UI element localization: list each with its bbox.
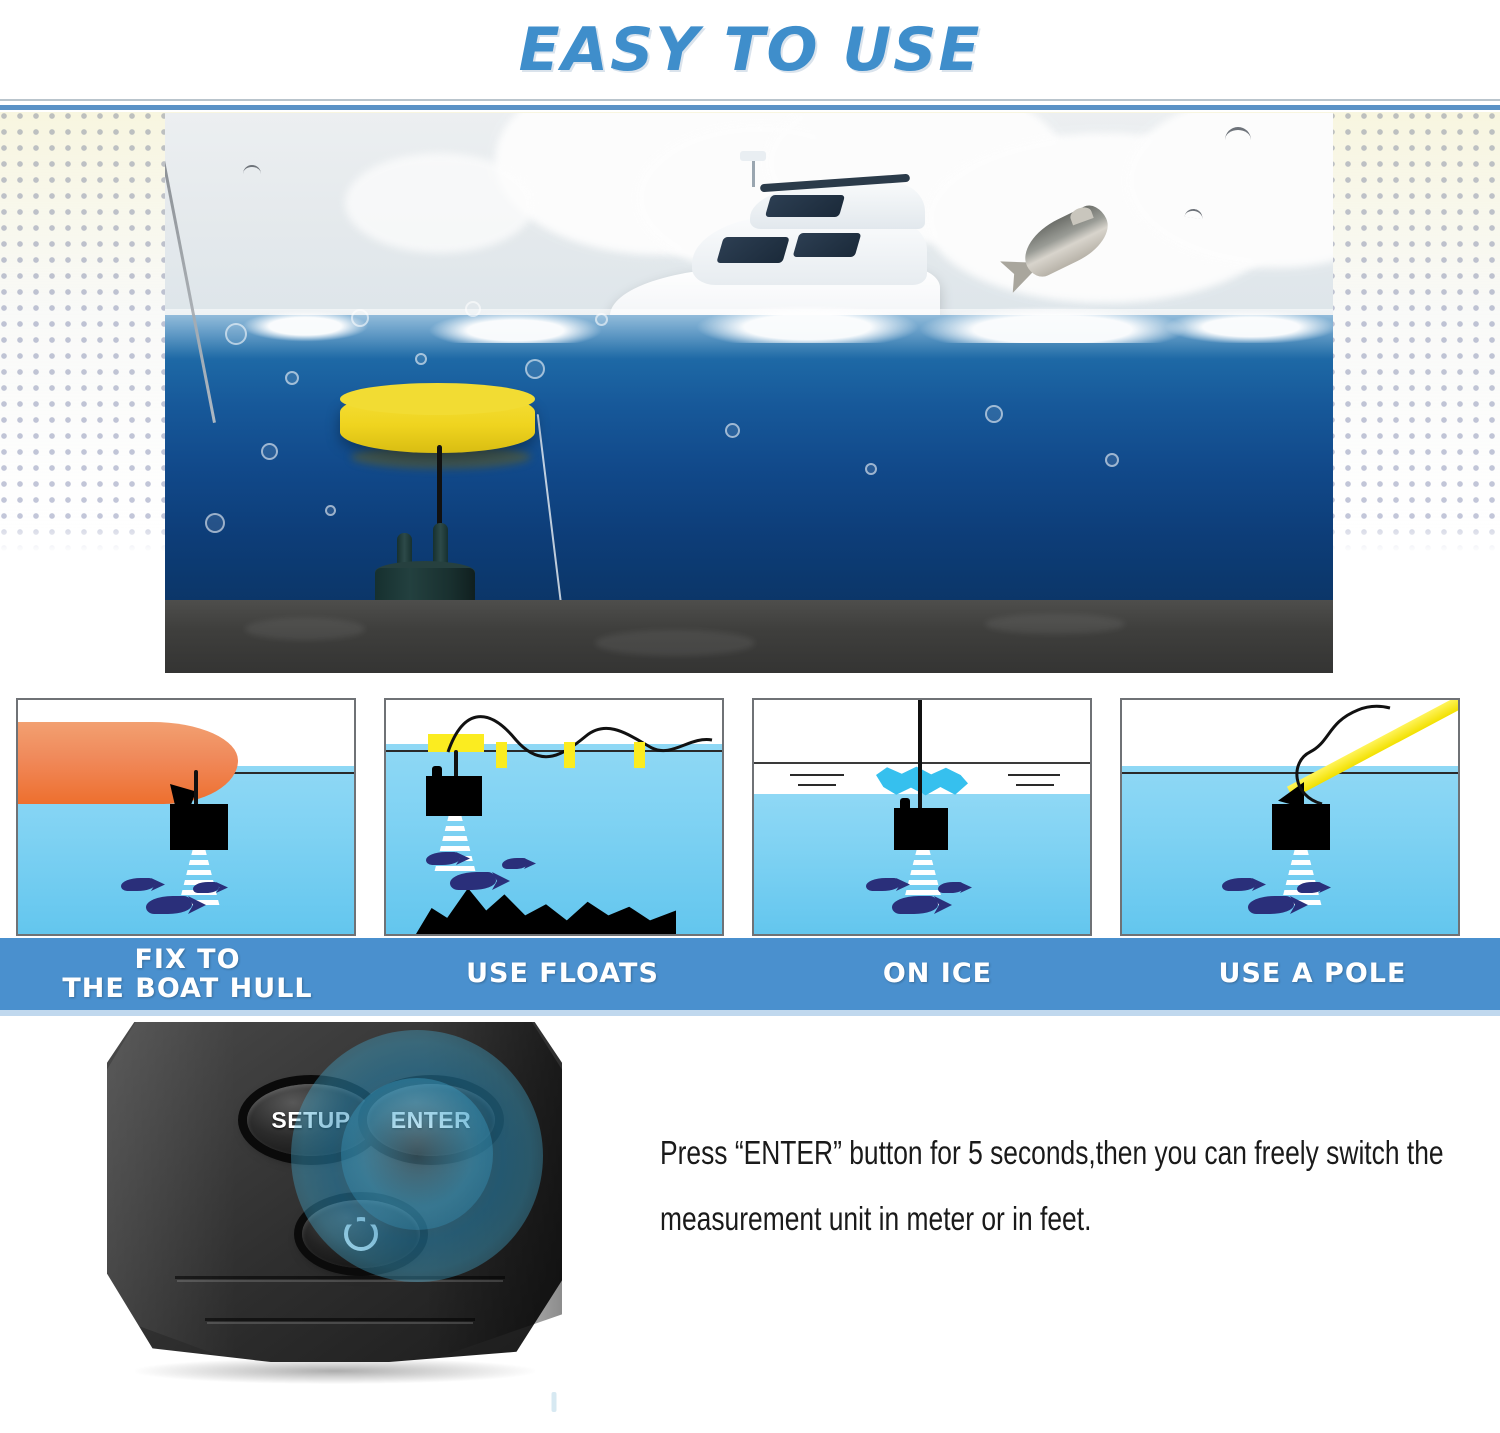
seabed-rock [245, 618, 365, 640]
caption-banner: FIX TO THE BOAT HULL USE FLOATS ON ICE U… [0, 938, 1500, 1010]
setup-button[interactable]: SETUP [247, 1084, 375, 1156]
transducer-cable [194, 770, 198, 806]
header-divider-gray [0, 99, 1500, 101]
bubble [725, 423, 740, 438]
ice-crack [1016, 784, 1054, 786]
caption-use-a-pole: USE A POLE [1125, 959, 1500, 988]
ice-crack [798, 784, 836, 786]
power-icon [344, 1217, 378, 1251]
transducer-cable [437, 445, 442, 535]
bubble [225, 323, 247, 345]
page-header: EASY TO USE [0, 0, 1500, 100]
sonar-fish-finder-unit: SETUP ENTER [95, 1022, 575, 1392]
water-body [165, 315, 1333, 612]
device-facet-right [425, 1022, 562, 1362]
header-divider-blue [0, 105, 1500, 110]
transducer-cable [918, 700, 922, 808]
instruction-text: Press “ENTER” button for 5 seconds,then … [660, 1120, 1468, 1252]
bubble [351, 309, 369, 327]
ice-crack [790, 774, 844, 776]
seabed-rock [985, 614, 1125, 634]
yacht-mast [752, 157, 755, 187]
page-title: EASY TO USE [519, 15, 982, 85]
transducer-cable [454, 750, 458, 778]
float-bobber [634, 742, 645, 768]
device-bevel-line [205, 1318, 475, 1321]
transducer-connector [432, 766, 442, 780]
wave-splash-band [165, 301, 1333, 343]
float-bobber [564, 742, 575, 768]
device-bevel-line [175, 1276, 505, 1279]
seabed-rock [595, 630, 755, 656]
bubble [205, 513, 225, 533]
sonar-transducer [170, 804, 228, 850]
boat-hull [16, 722, 238, 804]
caption-use-floats: USE FLOATS [375, 959, 750, 988]
hero-sonar-scene [165, 113, 1333, 673]
panel-air [754, 700, 1090, 762]
bubble [261, 443, 278, 460]
bubble [865, 463, 877, 475]
bubble [525, 359, 545, 379]
use-case-panel-row [16, 698, 1486, 936]
panel-use-floats[interactable] [384, 698, 724, 936]
transducer-connector [900, 798, 910, 812]
caption-fix-to-boat-hull: FIX TO THE BOAT HULL [0, 945, 375, 1003]
yellow-float-top [340, 383, 535, 415]
device-bevel-line [177, 1280, 503, 1282]
bubble [465, 301, 481, 317]
sonar-transducer [426, 776, 482, 816]
enter-button[interactable]: ENTER [367, 1084, 495, 1156]
float-bobber [496, 742, 507, 768]
bubble [325, 505, 336, 516]
panel-fix-to-boat-hull[interactable] [16, 698, 356, 936]
bubble [1105, 453, 1119, 467]
seabed [165, 600, 1333, 673]
yacht-window [716, 237, 789, 263]
bubble [415, 353, 427, 365]
bubble [285, 371, 299, 385]
bubble [985, 405, 1003, 423]
yacht-window [765, 195, 845, 217]
yacht-window [793, 233, 862, 257]
panel-on-ice[interactable] [752, 698, 1092, 936]
ice-crack [1008, 774, 1060, 776]
fishing-line-curve [1262, 704, 1392, 810]
yacht-radar [740, 151, 766, 161]
sonar-transducer [894, 808, 948, 850]
cloud [345, 153, 535, 253]
sonar-transducer [1272, 804, 1330, 850]
device-facet-left [107, 1022, 237, 1362]
fishing-line-curve [446, 706, 716, 762]
bubble [595, 313, 608, 326]
power-icon-bar [552, 1392, 557, 1412]
panel-use-a-pole[interactable] [1120, 698, 1460, 936]
power-button[interactable] [302, 1200, 420, 1268]
device-bevel-line [207, 1322, 473, 1324]
caption-on-ice: ON ICE [750, 959, 1125, 988]
